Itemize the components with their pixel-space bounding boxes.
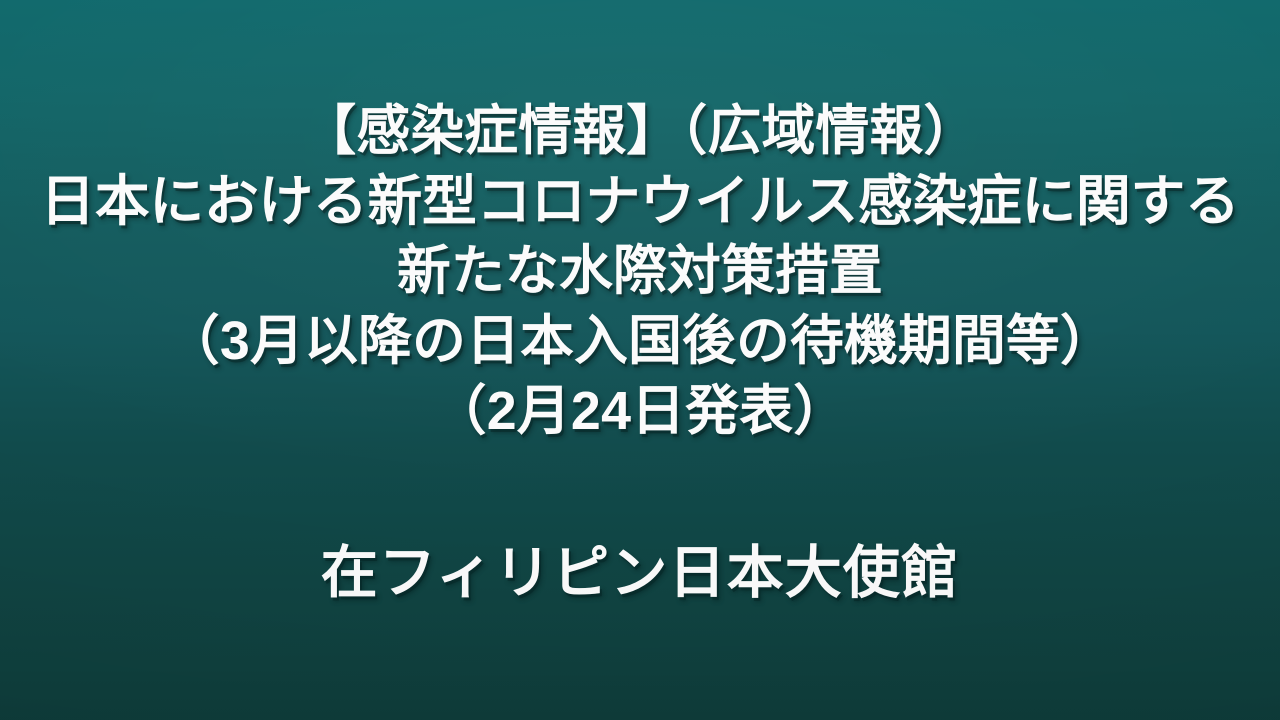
organization-block: 在フィリピン日本大使館 [0,536,1280,610]
title-line-5: （2月24日発表） [3,376,1277,446]
title-block: 【感染症情報】（広域情報） 日本における新型コロナウイルス感染症に関する 新たな… [0,96,1280,446]
title-line-3: 新たな水際対策措置 [3,236,1277,306]
title-line-1: 【感染症情報】（広域情報） [3,96,1277,166]
notice-slide: 【感染症情報】（広域情報） 日本における新型コロナウイルス感染症に関する 新たな… [0,0,1280,720]
title-line-4: （3月以降の日本入国後の待機期間等） [3,306,1277,376]
title-line-2: 日本における新型コロナウイルス感染症に関する [3,166,1277,236]
organization-name: 在フィリピン日本大使館 [0,536,1280,610]
